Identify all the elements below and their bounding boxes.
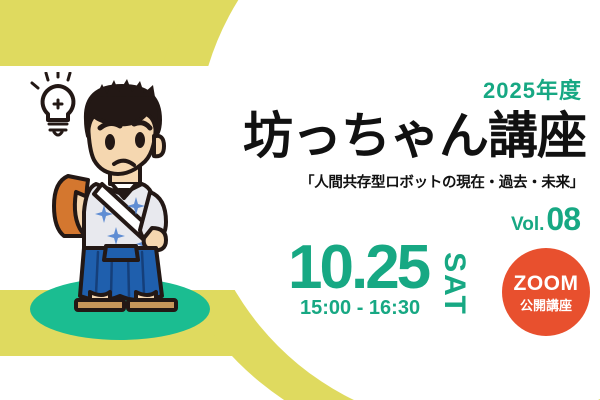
event-weekday-text: SAT [439, 239, 469, 329]
lightbulb-icon [32, 72, 73, 135]
zoom-platform-label: ZOOM [514, 273, 579, 294]
zoom-type-label: 公開講座 [520, 299, 572, 312]
volume-indicator: Vol. 08 [511, 203, 580, 235]
event-date: 10.25 [288, 237, 428, 299]
botchan-mascot [18, 72, 218, 312]
year-label: 2025年度 [483, 80, 582, 102]
eye-right [135, 132, 145, 148]
volume-label: Vol. [511, 215, 544, 234]
geta-sandals [76, 300, 176, 312]
event-weekday: SAT [437, 239, 471, 329]
eye-left [105, 134, 115, 150]
subtitle: 「人間共存型ロボットの現在・過去・未来」 [300, 176, 584, 191]
page-title: 坊っちゃん講座 [243, 110, 586, 163]
zoom-badge: ZOOM 公開講座 [502, 248, 590, 336]
event-time: 15:00 - 16:30 [300, 298, 420, 318]
poster-canvas: 2025年度 坊っちゃん講座 「人間共存型ロボットの現在・過去・未来」 Vol.… [0, 0, 600, 400]
volume-number: 08 [546, 203, 580, 235]
